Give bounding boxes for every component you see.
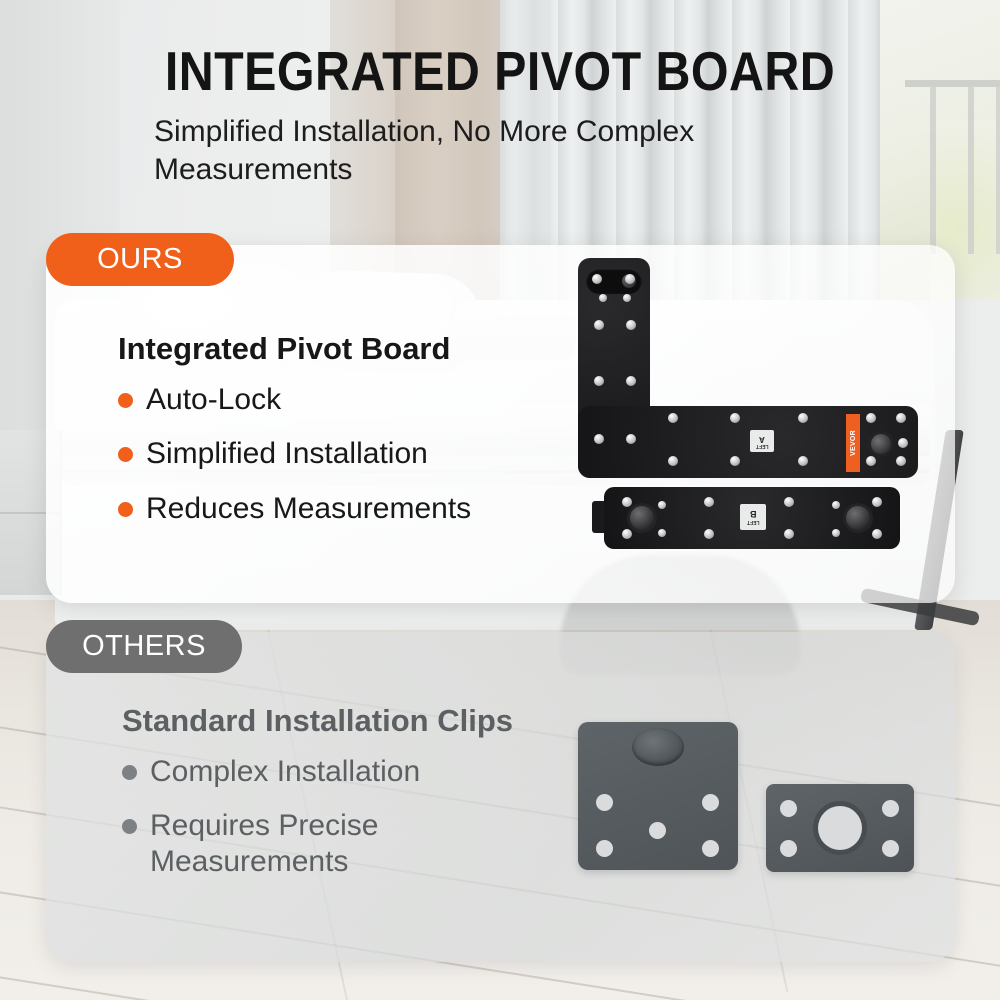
screw-hole — [832, 501, 840, 509]
product-image-bar-bracket: B LEFT — [604, 487, 900, 549]
screw-hole — [784, 529, 794, 539]
screw-hole — [658, 529, 666, 537]
screw-hole — [594, 320, 604, 330]
screw-hole — [622, 529, 632, 539]
others-feature-label: Complex Installation — [150, 754, 420, 789]
screw-hole — [596, 794, 613, 811]
orientation-marker-b: B LEFT — [740, 504, 766, 530]
screw-hole — [784, 497, 794, 507]
screw-hole — [594, 376, 604, 386]
list-item: Simplified Installation — [118, 436, 588, 471]
pivot-lock-knob-icon — [871, 434, 891, 454]
screw-hole — [626, 320, 636, 330]
screw-hole — [882, 800, 899, 817]
screw-hole — [594, 434, 604, 444]
orientation-marker-label: LEFT — [747, 519, 760, 525]
competitor-rect-plate — [766, 784, 914, 872]
screw-hole — [668, 456, 678, 466]
screw-hole — [622, 497, 632, 507]
screw-hole — [798, 413, 808, 423]
others-feature-list: Complex Installation Requires Precise Me… — [122, 754, 592, 879]
screw-hole — [730, 413, 740, 423]
competitor-square-plate — [578, 722, 738, 870]
infographic-canvas: INTEGRATED PIVOT BOARD Simplified Instal… — [0, 0, 1000, 1000]
screw-hole — [596, 840, 613, 857]
product-image-l-pivot-board: VEVOR A LEFT — [578, 258, 918, 478]
ours-feature-label: Simplified Installation — [146, 436, 428, 471]
vevor-brand-label: VEVOR — [846, 414, 860, 472]
screw-hole — [882, 840, 899, 857]
screw-hole — [668, 413, 678, 423]
screw-hole — [626, 376, 636, 386]
ours-heading: Integrated Pivot Board — [118, 332, 588, 366]
pivot-lock-knob-icon — [846, 506, 870, 530]
screw-hole — [866, 413, 876, 423]
screw-hole — [702, 840, 719, 857]
page-title: INTEGRATED PIVOT BOARD — [60, 0, 940, 99]
ours-badge: OURS — [46, 233, 234, 286]
screw-hole — [898, 438, 908, 448]
plate-center-hole-icon — [818, 806, 862, 850]
screw-hole — [872, 497, 882, 507]
others-content: Standard Installation Clips Complex Inst… — [122, 704, 592, 898]
screw-hole — [592, 274, 602, 284]
bullet-dot-icon — [118, 502, 133, 517]
plate-boss-icon — [632, 728, 684, 766]
floor-plank-line — [0, 970, 1000, 1000]
screw-hole — [872, 529, 882, 539]
list-item: Auto-Lock — [118, 382, 588, 417]
ours-content: Integrated Pivot Board Auto-Lock Simplif… — [118, 332, 588, 545]
screw-hole — [704, 529, 714, 539]
screw-hole — [798, 456, 808, 466]
screw-hole — [780, 840, 797, 857]
screw-hole — [896, 413, 906, 423]
list-item: Requires Precise Measurements — [122, 808, 592, 879]
bullet-dot-icon — [118, 393, 133, 408]
screw-hole — [626, 434, 636, 444]
screw-hole — [658, 501, 666, 509]
list-item: Reduces Measurements — [118, 491, 588, 526]
screw-hole — [649, 822, 666, 839]
screw-hole — [780, 800, 797, 817]
orientation-marker-letter: B — [750, 509, 757, 519]
screw-hole — [599, 294, 607, 302]
screw-hole — [704, 497, 714, 507]
others-badge-label: OTHERS — [82, 630, 206, 663]
screw-hole — [832, 529, 840, 537]
ours-badge-label: OURS — [97, 243, 183, 276]
screw-hole — [866, 456, 876, 466]
list-item: Complex Installation — [122, 754, 592, 789]
others-feature-label: Requires Precise Measurements — [150, 808, 450, 879]
orientation-marker-label: LEFT — [756, 443, 769, 448]
screw-hole — [730, 456, 740, 466]
screw-hole — [896, 456, 906, 466]
screw-hole — [702, 794, 719, 811]
screw-hole — [625, 274, 635, 284]
header: INTEGRATED PIVOT BOARD Simplified Instal… — [0, 0, 1000, 190]
ours-feature-list: Auto-Lock Simplified Installation Reduce… — [118, 382, 588, 526]
bullet-dot-icon — [122, 765, 137, 780]
ours-feature-label: Reduces Measurements — [146, 491, 471, 526]
orientation-marker-a: A LEFT — [750, 430, 774, 452]
others-badge: OTHERS — [46, 620, 242, 673]
screw-hole — [623, 294, 631, 302]
others-heading: Standard Installation Clips — [122, 704, 592, 738]
vevor-brand-text: VEVOR — [850, 430, 857, 456]
page-subtitle: Simplified Installation, No More Complex… — [146, 113, 854, 190]
bullet-dot-icon — [118, 447, 133, 462]
bullet-dot-icon — [122, 819, 137, 834]
pivot-lock-knob-icon — [630, 506, 654, 530]
orientation-marker-letter: A — [759, 435, 765, 443]
ours-feature-label: Auto-Lock — [146, 382, 281, 417]
